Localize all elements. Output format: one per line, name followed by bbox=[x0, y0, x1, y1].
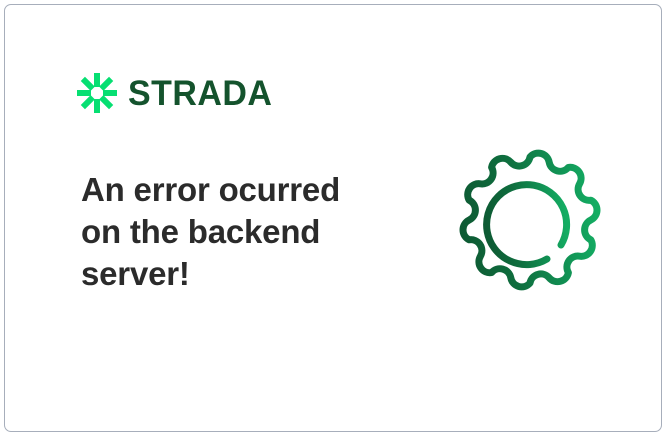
error-card: STRADA An error ocurred on the backend s… bbox=[4, 4, 662, 432]
strada-asterisk-icon bbox=[77, 73, 117, 113]
strada-logo: STRADA bbox=[77, 73, 277, 113]
error-message-heading: An error ocurred on the backend server! bbox=[81, 169, 381, 295]
gear-cog-icon bbox=[451, 149, 609, 305]
strada-wordmark: STRADA bbox=[128, 76, 272, 111]
error-page: STRADA An error ocurred on the backend s… bbox=[0, 0, 666, 436]
